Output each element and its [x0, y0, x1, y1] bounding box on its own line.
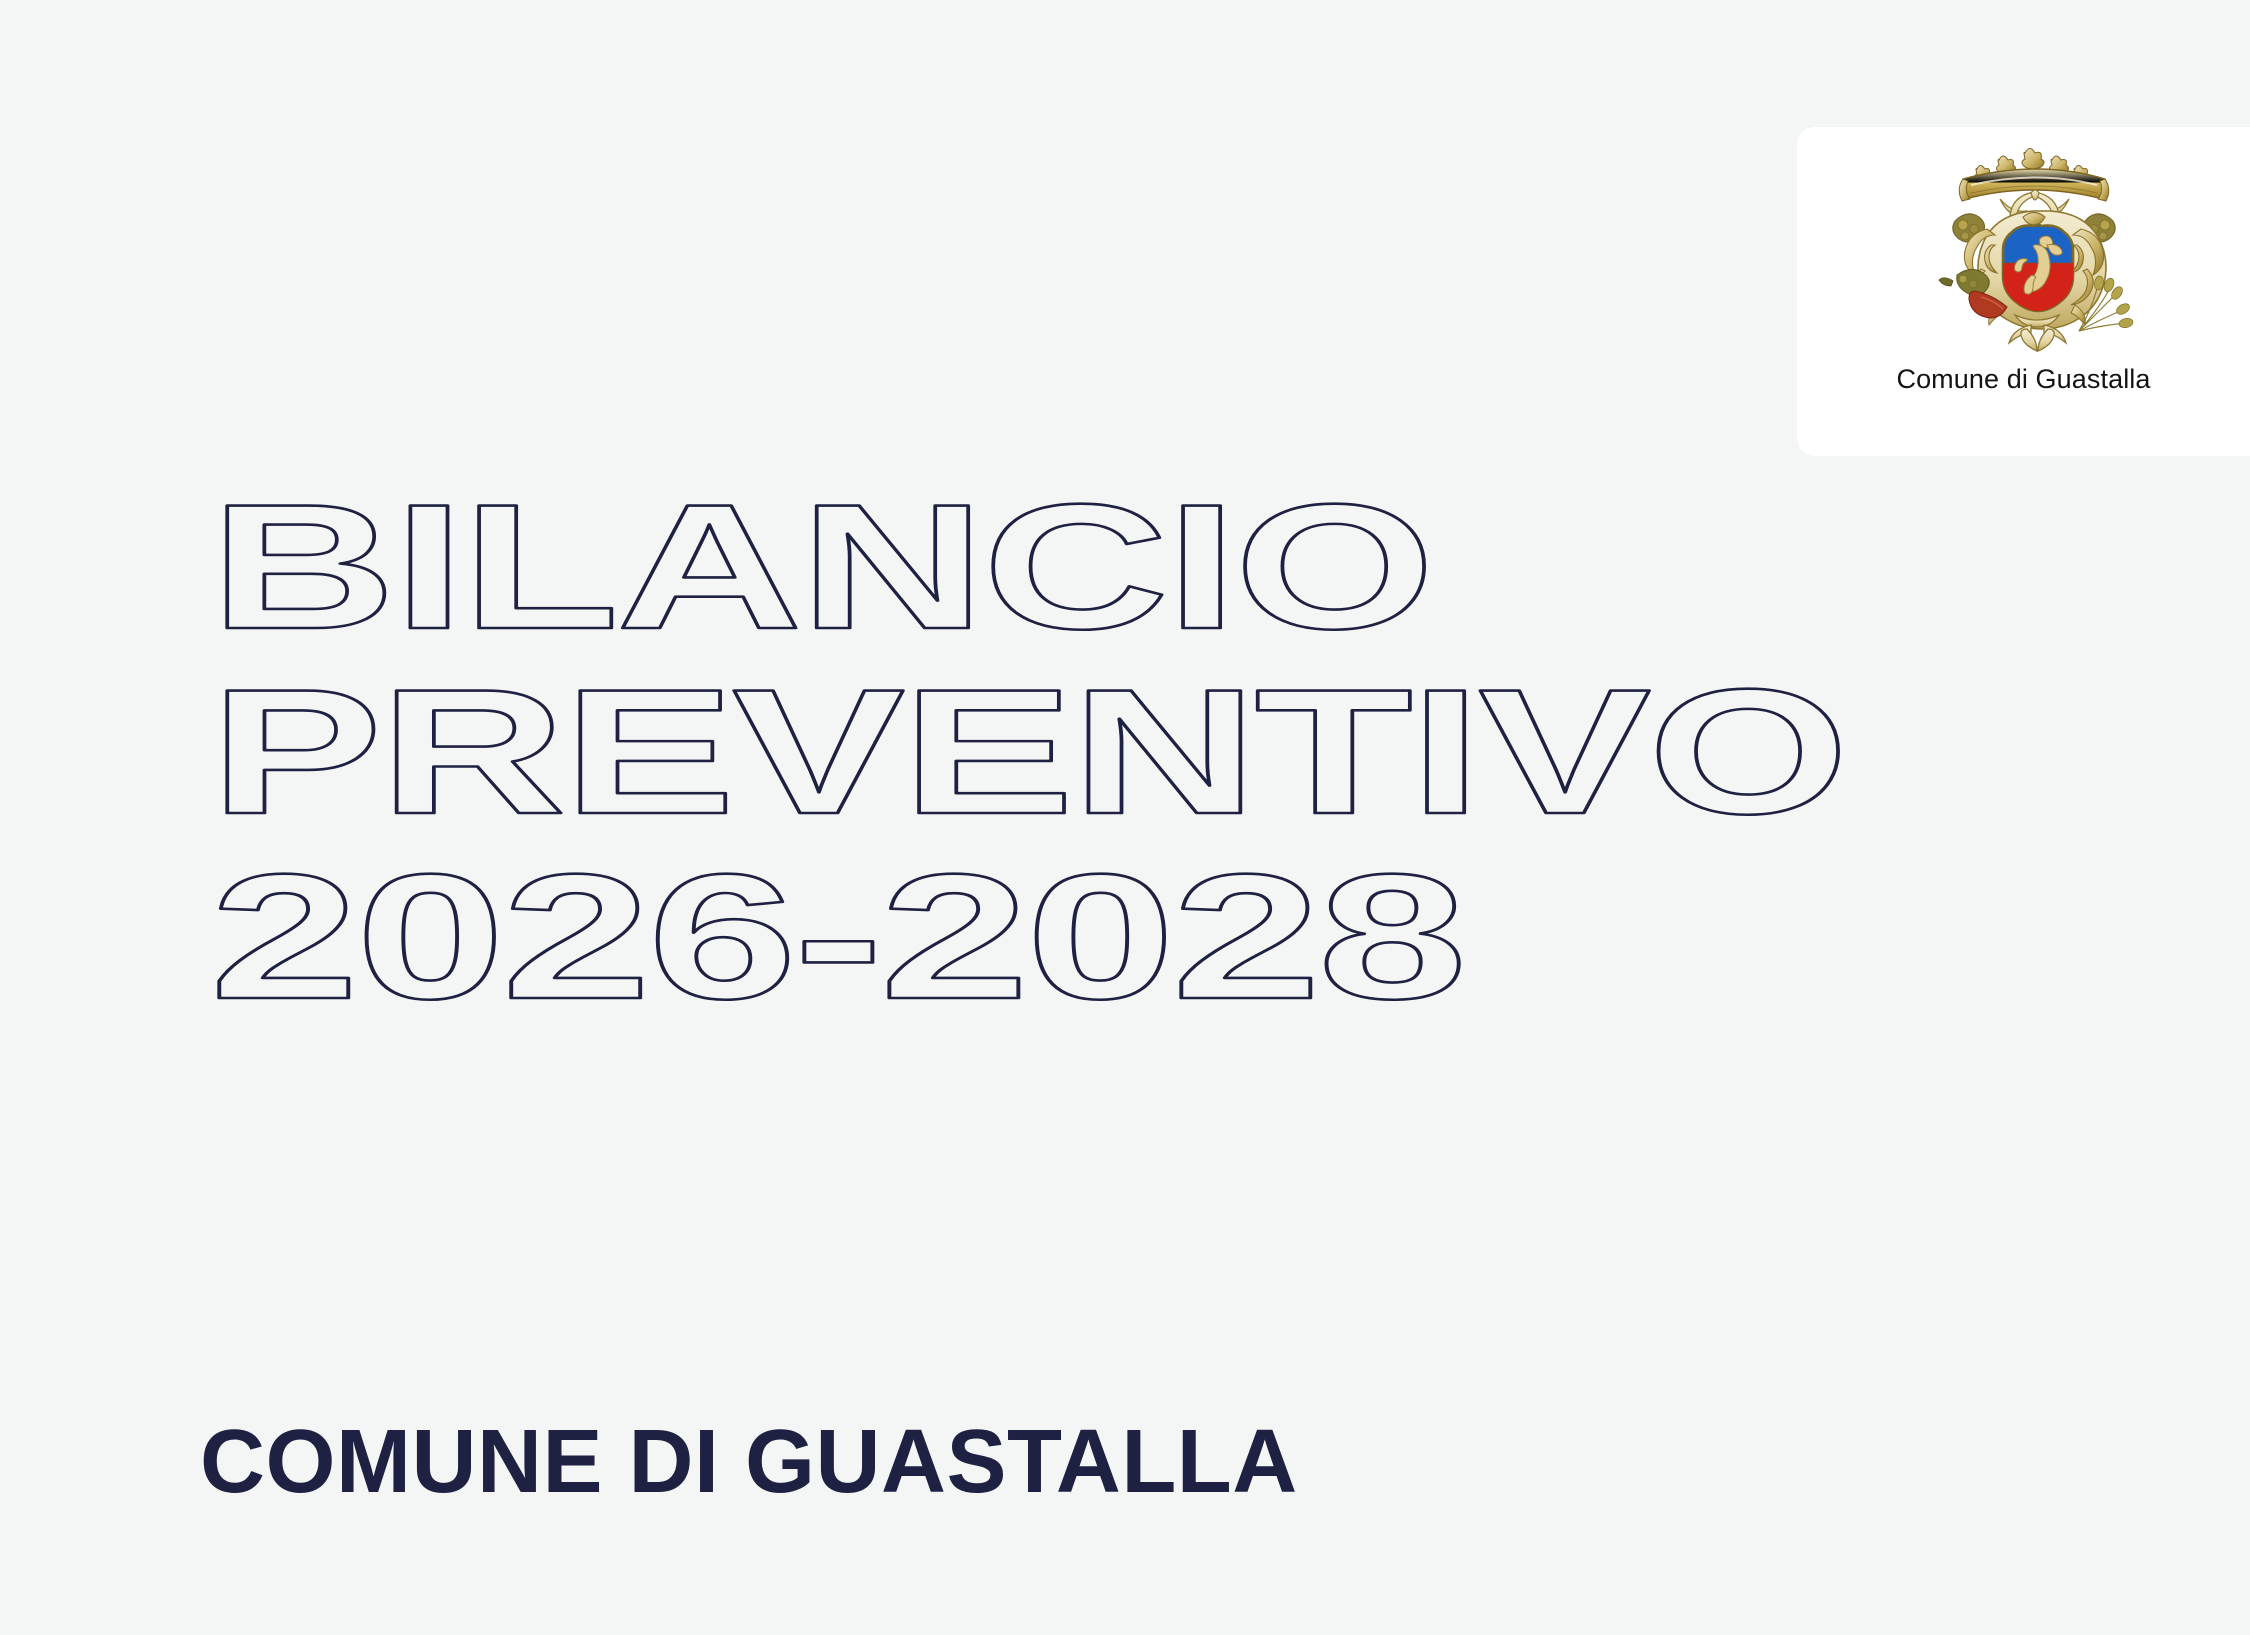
logo-caption: Comune di Guastalla	[1896, 363, 2150, 395]
title-line-2: PREVENTIVO	[210, 652, 1846, 851]
page-title: BILANCIO PREVENTIVO 2026-2028	[206, 473, 1956, 1113]
logo-card: Comune di Guastalla	[1797, 127, 2250, 456]
title-line-1: BILANCIO	[210, 467, 1432, 666]
coat-of-arms-icon	[1927, 133, 2157, 361]
footer-organization-name: COMUNE DI GUASTALLA	[200, 1416, 1298, 1508]
cover-slide: Comune di Guastalla BILANCIO PREVENTIVO …	[0, 0, 2250, 1635]
title-line-3: 2026-2028	[210, 837, 1464, 1036]
